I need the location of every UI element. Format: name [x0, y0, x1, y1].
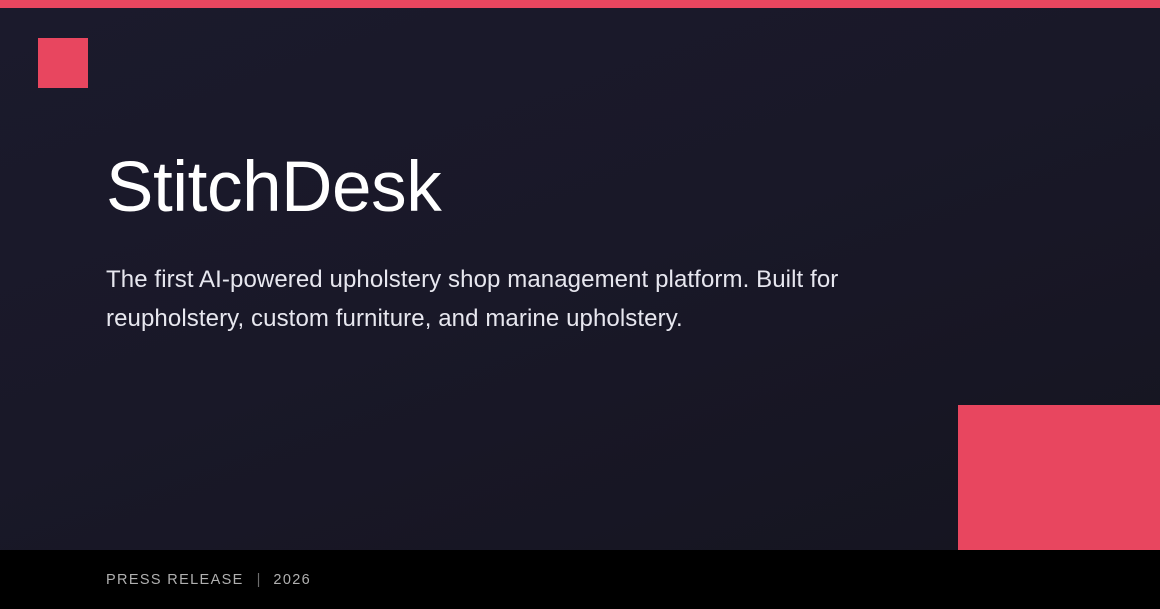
corner-accent-block — [958, 405, 1160, 550]
brand-logo-square-icon — [38, 38, 88, 88]
hero-content: StitchDesk The first AI-powered upholste… — [106, 150, 966, 339]
footer-separator: | — [244, 572, 274, 588]
press-release-slide: StitchDesk The first AI-powered upholste… — [0, 0, 1160, 609]
hero-subtitle: The first AI-powered upholstery shop man… — [106, 225, 956, 339]
top-accent-bar — [0, 0, 1160, 8]
footer-label: PRESS RELEASE — [106, 572, 244, 588]
page-title: StitchDesk — [106, 150, 966, 225]
footer-bar: PRESS RELEASE | 2026 — [0, 550, 1160, 609]
footer-content: PRESS RELEASE | 2026 — [106, 550, 311, 609]
footer-year: 2026 — [273, 572, 311, 588]
